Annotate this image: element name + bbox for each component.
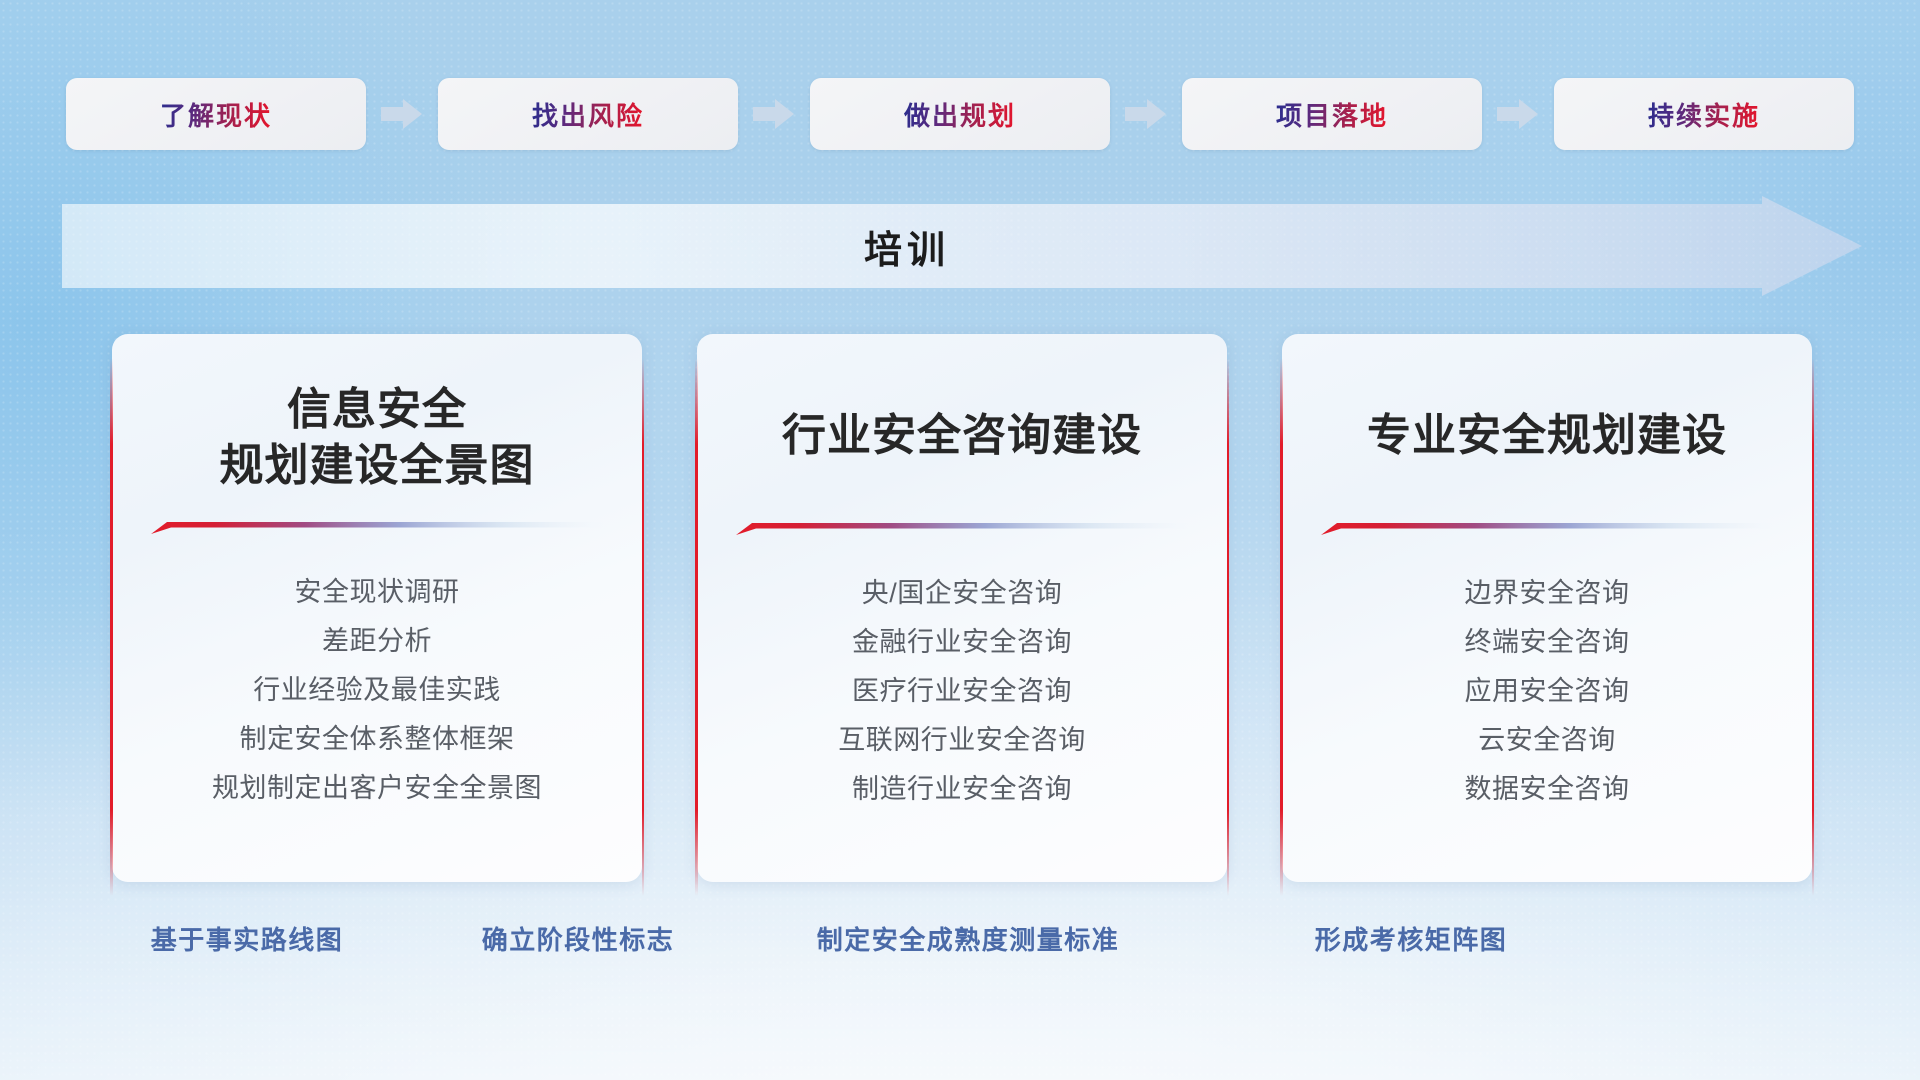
list-item[interactable]: 安全现状调研 [138, 568, 616, 617]
step-box-1[interactable]: 了解现状 [66, 78, 366, 150]
card-item-list: 央/国企安全咨询金融行业安全咨询医疗行业安全咨询互联网行业安全咨询制造行业安全咨… [723, 569, 1201, 814]
card-item-list: 边界安全咨询终端安全咨询应用安全咨询云安全咨询数据安全咨询 [1308, 569, 1786, 814]
step-box-2[interactable]: 找出风险 [438, 78, 738, 150]
arrow-right-icon [381, 97, 423, 131]
card-divider [1321, 522, 1773, 535]
list-item[interactable]: 应用安全咨询 [1308, 667, 1786, 716]
card-1[interactable]: 信息安全 规划建设全景图 安全现状调研差距分析行业经验及最佳实践制定安全体系整体… [112, 334, 642, 882]
step-label: 了解现状 [160, 96, 272, 133]
list-item[interactable]: 医疗行业安全咨询 [723, 667, 1201, 716]
card-2[interactable]: 行业安全咨询建设 央/国企安全咨询金融行业安全咨询医疗行业安全咨询互联网行业安全… [697, 334, 1227, 882]
step-label: 做出规划 [904, 96, 1016, 133]
step-box-4[interactable]: 项目落地 [1182, 78, 1482, 150]
card-title: 行业安全咨询建设 [782, 408, 1142, 464]
gradient-divider-icon [1321, 522, 1773, 535]
list-item[interactable]: 行业经验及最佳实践 [138, 666, 616, 715]
step-box-3[interactable]: 做出规划 [810, 78, 1110, 150]
arrow-right-icon [1497, 97, 1539, 131]
gradient-divider-icon [151, 521, 603, 534]
process-step-row: 了解现状 找出风险 做出规划 项目落地 持续实施 [66, 78, 1854, 150]
list-item[interactable]: 互联网行业安全咨询 [723, 716, 1201, 765]
list-item[interactable]: 终端安全咨询 [1308, 618, 1786, 667]
caption-1: 基于事实路线图 [151, 920, 344, 957]
training-band: 培训 [62, 196, 1862, 296]
list-item[interactable]: 金融行业安全咨询 [723, 618, 1201, 667]
step-label: 持续实施 [1648, 96, 1760, 133]
list-item[interactable]: 制定安全体系整体框架 [138, 715, 616, 764]
caption-row: 基于事实路线图确立阶段性标志制定安全成熟度测量标准形成考核矩阵图 [0, 920, 1920, 968]
list-item[interactable]: 数据安全咨询 [1308, 765, 1786, 814]
card-row: 信息安全 规划建设全景图 安全现状调研差距分析行业经验及最佳实践制定安全体系整体… [112, 334, 1812, 882]
caption-4: 形成考核矩阵图 [1315, 920, 1508, 957]
list-item[interactable]: 央/国企安全咨询 [723, 569, 1201, 618]
gradient-divider-icon [736, 522, 1188, 535]
step-label: 项目落地 [1276, 96, 1388, 133]
card-item-list: 安全现状调研差距分析行业经验及最佳实践制定安全体系整体框架规划制定出客户安全全景… [138, 568, 616, 813]
card-divider [151, 521, 603, 534]
arrow-right-icon [1125, 97, 1167, 131]
list-item[interactable]: 边界安全咨询 [1308, 569, 1786, 618]
card-divider [736, 522, 1188, 535]
step-box-5[interactable]: 持续实施 [1554, 78, 1854, 150]
card-title: 专业安全规划建设 [1367, 408, 1727, 464]
list-item[interactable]: 差距分析 [138, 617, 616, 666]
step-label: 找出风险 [532, 96, 644, 133]
list-item[interactable]: 云安全咨询 [1308, 716, 1786, 765]
caption-3: 制定安全成熟度测量标准 [817, 920, 1120, 957]
list-item[interactable]: 制造行业安全咨询 [723, 765, 1201, 814]
training-label: 培训 [62, 196, 1862, 296]
card-3[interactable]: 专业安全规划建设 边界安全咨询终端安全咨询应用安全咨询云安全咨询数据安全咨询 [1282, 334, 1812, 882]
list-item[interactable]: 规划制定出客户安全全景图 [138, 764, 616, 813]
caption-2: 确立阶段性标志 [482, 920, 675, 957]
arrow-right-icon [753, 97, 795, 131]
card-title: 信息安全 规划建设全景图 [220, 382, 535, 495]
